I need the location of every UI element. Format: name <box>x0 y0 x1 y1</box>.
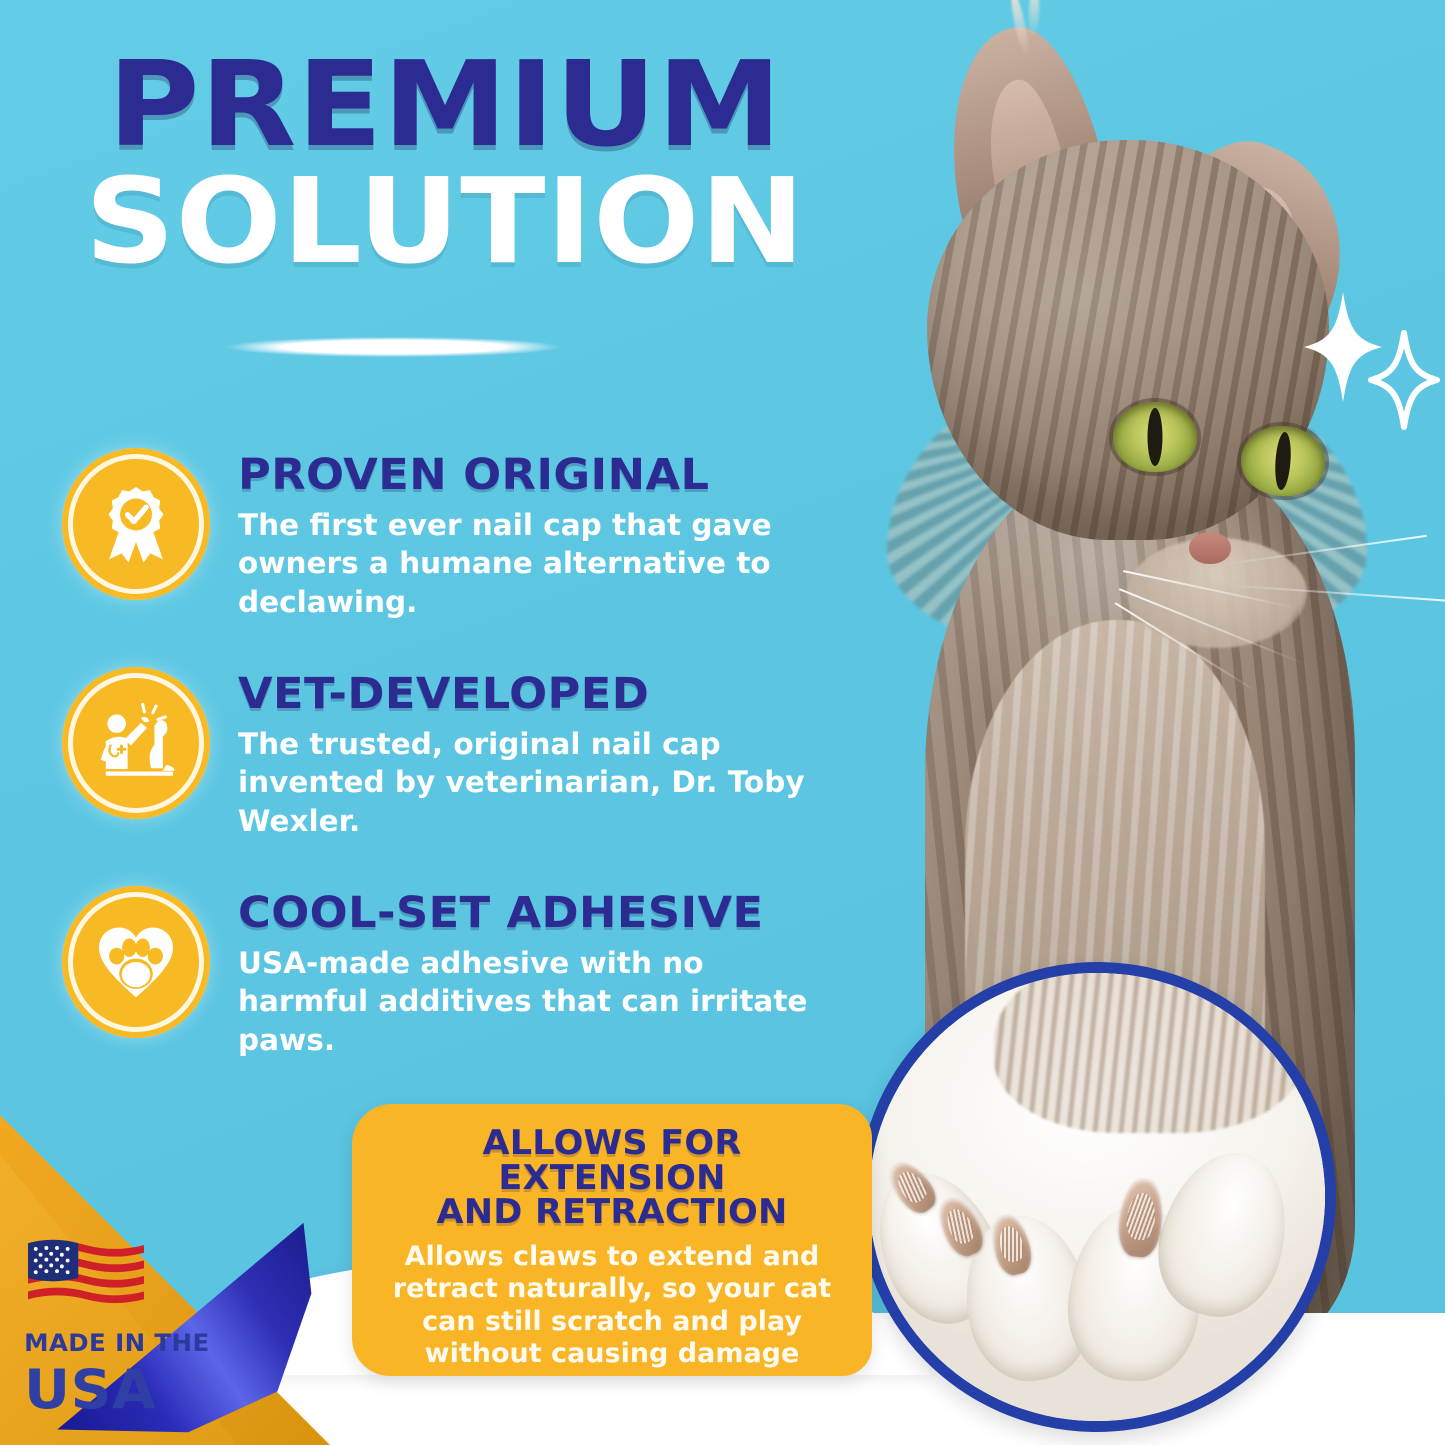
feature-heading: PROVEN ORIGINAL <box>238 454 862 497</box>
cat-head <box>927 140 1329 540</box>
made-in-usa-peel-corner: MADE IN THE USA <box>0 1115 330 1445</box>
callout-heading-line-1: ALLOWS FOR EXTENSION <box>482 1123 741 1198</box>
cat-paw-with-nail-caps-photo <box>842 946 1352 1445</box>
feature-item: VET-DEVELOPED The trusted, original nail… <box>62 667 842 840</box>
callout-body: Allows claws to extend and retract natur… <box>378 1241 846 1371</box>
headline-divider-swoosh <box>178 334 608 360</box>
paw-inset-content <box>863 967 1331 1427</box>
feature-body: The trusted, original nail cap invented … <box>238 725 838 840</box>
headline-line-1: PREMIUM <box>16 48 875 161</box>
feature-text: COOL-SET ADHESIVE USA-made adhesive with… <box>238 886 838 1059</box>
feature-heading: COOL-SET ADHESIVE <box>238 892 862 935</box>
feature-body: USA-made adhesive with no harmful additi… <box>238 944 838 1059</box>
headline-line-2: SOLUTION <box>16 165 875 278</box>
award-ribbon-check-icon <box>62 448 210 600</box>
feature-body: The first ever nail cap that gave owners… <box>238 506 838 621</box>
sparkle-outline-icon <box>1368 330 1440 430</box>
cat-nose <box>1189 532 1231 564</box>
cat-ear-tuft-left-2 <box>1028 0 1040 38</box>
usa-label: USA <box>24 1363 156 1417</box>
product-feature-poster: PREMIUM SOLUTION PROVEN ORIGINAL The fi <box>0 0 1445 1445</box>
vet-high-five-cat-icon <box>62 667 210 819</box>
paw-upper-leg-fur <box>994 949 1303 1133</box>
feature-item: PROVEN ORIGINAL The first ever nail cap … <box>62 448 842 621</box>
made-in-the-label: MADE IN THE <box>24 1329 209 1357</box>
callout-heading: ALLOWS FOR EXTENSION AND RETRACTION <box>371 1126 853 1230</box>
cat-pupil-right <box>1273 431 1292 491</box>
feature-heading: VET-DEVELOPED <box>238 673 862 716</box>
feature-item: COOL-SET ADHESIVE USA-made adhesive with… <box>62 886 842 1059</box>
usa-flag-icon <box>28 1239 144 1313</box>
cat-eye-left <box>1113 402 1197 472</box>
callout-heading-line-2: AND RETRACTION <box>436 1192 787 1232</box>
headline-block: PREMIUM SOLUTION <box>40 48 850 279</box>
extension-retraction-callout: ALLOWS FOR EXTENSION AND RETRACTION Allo… <box>352 1104 872 1376</box>
heart-paw-icon <box>62 886 210 1038</box>
feature-text: PROVEN ORIGINAL The first ever nail cap … <box>238 448 838 621</box>
feature-list: PROVEN ORIGINAL The first ever nail cap … <box>62 448 842 1105</box>
cat-pupil-left <box>1148 408 1163 467</box>
feature-text: VET-DEVELOPED The trusted, original nail… <box>238 667 838 840</box>
